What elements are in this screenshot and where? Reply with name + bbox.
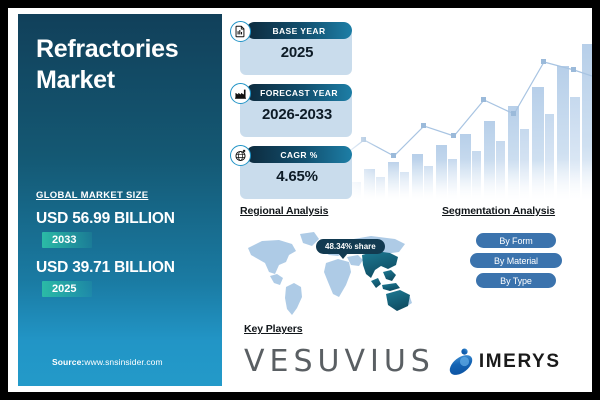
page-canvas: Refractories Market GLOBAL MARKET SIZE U… [8,8,592,392]
title-panel: Refractories Market GLOBAL MARKET SIZE U… [18,14,222,386]
market-size-year-2033: 2033 [42,232,92,248]
imerys-logo: IMERYS [445,347,561,377]
kpi-value-forecast-year: 2026-2033 [244,106,350,123]
factory-icon [230,83,251,104]
report-document-icon [230,21,251,42]
key-players-logos: VESUVIUS IMERYS [244,340,592,384]
imerys-wordmark: IMERYS [479,351,561,373]
growth-globe-icon [230,145,251,166]
source-url: www.snsinsider.com [84,357,162,367]
segment-by-material[interactable]: By Material [470,253,562,268]
title-line-2: Market [36,65,212,96]
kpi-label-forecast-year: FORECAST YEAR [246,84,352,101]
segment-by-form[interactable]: By Form [476,233,556,248]
decorative-bar-chart [338,14,592,200]
kpi-value-base-year: 2025 [244,44,350,61]
kpi-label-base-year: BASE YEAR [246,22,352,39]
kpi-value-cagr: 4.65% [244,168,350,185]
vesuvius-logo: VESUVIUS [244,347,435,377]
kpi-label-cagr: CAGR % [246,146,352,163]
title-line-1: Refractories [36,34,212,65]
map-highlight-asia-pacific [362,251,410,311]
segment-by-type[interactable]: By Type [476,273,556,288]
segmentation-analysis-title: Segmentation Analysis [442,205,555,217]
imerys-mark-icon [445,347,477,377]
kpi-card-base-year: BASE YEAR 2025 [230,22,352,75]
key-players-title: Key Players [244,323,302,335]
kpi-card-cagr: CAGR % 4.65% [230,146,352,199]
page-title: Refractories Market [36,34,212,95]
kpi-card-forecast-year: FORECAST YEAR 2026-2033 [230,84,352,137]
regional-analysis-title: Regional Analysis [240,205,328,217]
world-map: 48.34% share [240,226,415,318]
market-size-year-2025: 2025 [42,281,92,297]
segmentation-list: By Form By Material By Type [470,233,562,293]
source-prefix: Source: [52,357,84,367]
infographic-root: Refractories Market GLOBAL MARKET SIZE U… [0,0,600,400]
map-share-callout: 48.34% share [316,239,385,254]
market-size-label: GLOBAL MARKET SIZE [36,190,216,201]
source-line: Source:www.snsinsider.com [52,357,163,367]
market-size-value-2033: USD 56.99 BILLION [36,210,216,228]
global-market-size: GLOBAL MARKET SIZE USD 56.99 BILLION 203… [36,190,216,308]
market-size-value-2025: USD 39.71 BILLION [36,259,216,277]
